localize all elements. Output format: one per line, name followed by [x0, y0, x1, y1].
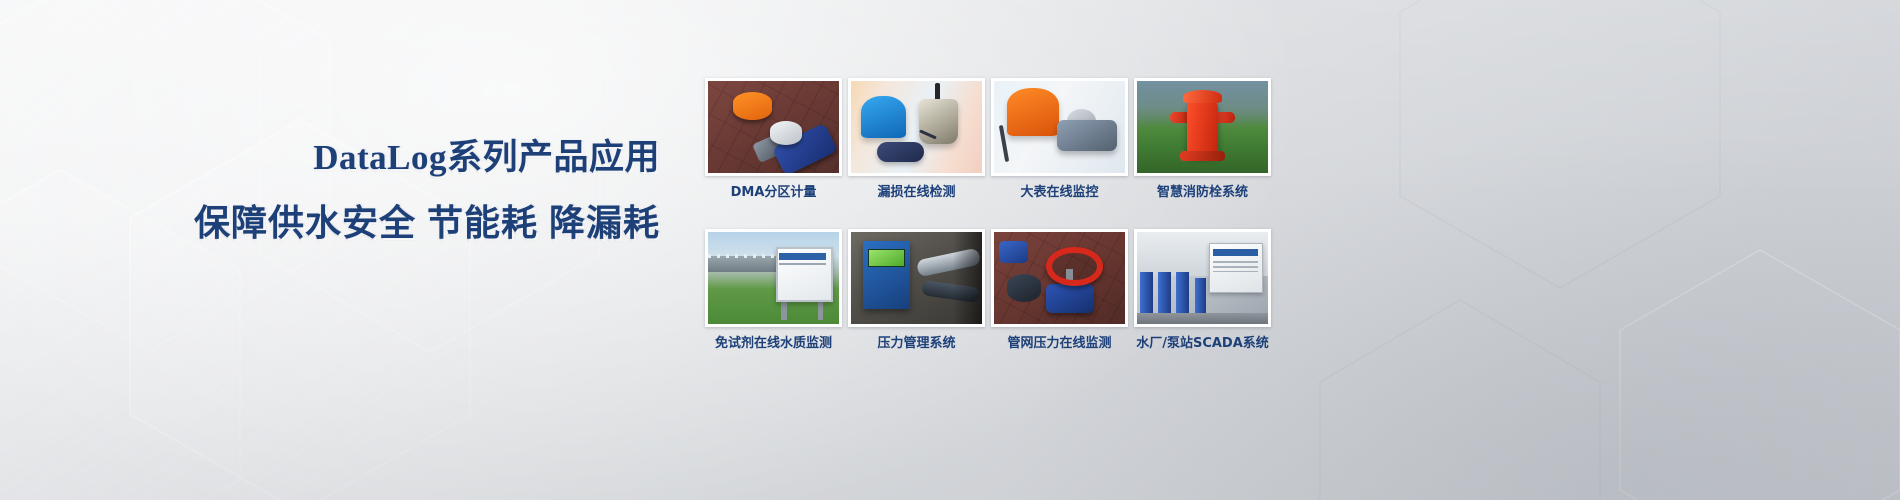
photo-network-pressure-monitoring — [994, 232, 1125, 324]
product-thumbnail[interactable] — [1134, 78, 1271, 176]
product-caption: 管网压力在线监测 — [1007, 337, 1111, 350]
product-caption: 水厂/泵站SCADA系统 — [1136, 337, 1269, 350]
photo-pressure-management — [851, 232, 982, 324]
product-caption: 大表在线监控 — [1020, 186, 1098, 199]
photo-reagent-free-water-quality — [708, 232, 839, 324]
headline-line-2: 保障供水安全 节能耗 降漏耗 — [0, 202, 660, 243]
product-thumbnail[interactable] — [1134, 229, 1271, 327]
product-thumbnail[interactable] — [705, 78, 842, 176]
product-card-dma[interactable]: DMA分区计量 — [705, 78, 842, 217]
product-thumbnail[interactable] — [991, 78, 1128, 176]
photo-waterworks-scada — [1137, 232, 1268, 324]
product-caption: 漏损在线检测 — [877, 186, 955, 199]
product-thumbnail[interactable] — [991, 229, 1128, 327]
product-grid: DMA分区计量 漏损在线检测 大表在线监控 — [705, 78, 1271, 368]
product-card-large-meter[interactable]: 大表在线监控 — [991, 78, 1128, 217]
photo-dma-metering — [708, 81, 839, 173]
product-caption: 智慧消防栓系统 — [1157, 186, 1248, 199]
product-thumbnail[interactable] — [848, 229, 985, 327]
product-thumbnail[interactable] — [705, 229, 842, 327]
product-thumbnail[interactable] — [848, 78, 985, 176]
photo-smart-hydrant — [1137, 81, 1268, 173]
headline-block: DataLog系列产品应用 保障供水安全 节能耗 降漏耗 — [0, 138, 660, 244]
product-card-pressure-management[interactable]: 压力管理系统 — [848, 229, 985, 368]
product-card-scada[interactable]: 水厂/泵站SCADA系统 — [1134, 229, 1271, 368]
product-card-leak-detection[interactable]: 漏损在线检测 — [848, 78, 985, 217]
product-caption: 压力管理系统 — [877, 337, 955, 350]
product-card-network-pressure[interactable]: 管网压力在线监测 — [991, 229, 1128, 368]
photo-large-meter-monitoring — [994, 81, 1125, 173]
product-card-smart-hydrant[interactable]: 智慧消防栓系统 — [1134, 78, 1271, 217]
headline-line-1: DataLog系列产品应用 — [0, 138, 660, 178]
product-caption: DMA分区计量 — [731, 186, 817, 199]
promo-banner: DataLog系列产品应用 保障供水安全 节能耗 降漏耗 DMA分区计量 — [0, 0, 1900, 500]
photo-leak-detection — [851, 81, 982, 173]
product-caption: 免试剂在线水质监测 — [715, 337, 832, 350]
product-card-water-quality[interactable]: 免试剂在线水质监测 — [705, 229, 842, 368]
